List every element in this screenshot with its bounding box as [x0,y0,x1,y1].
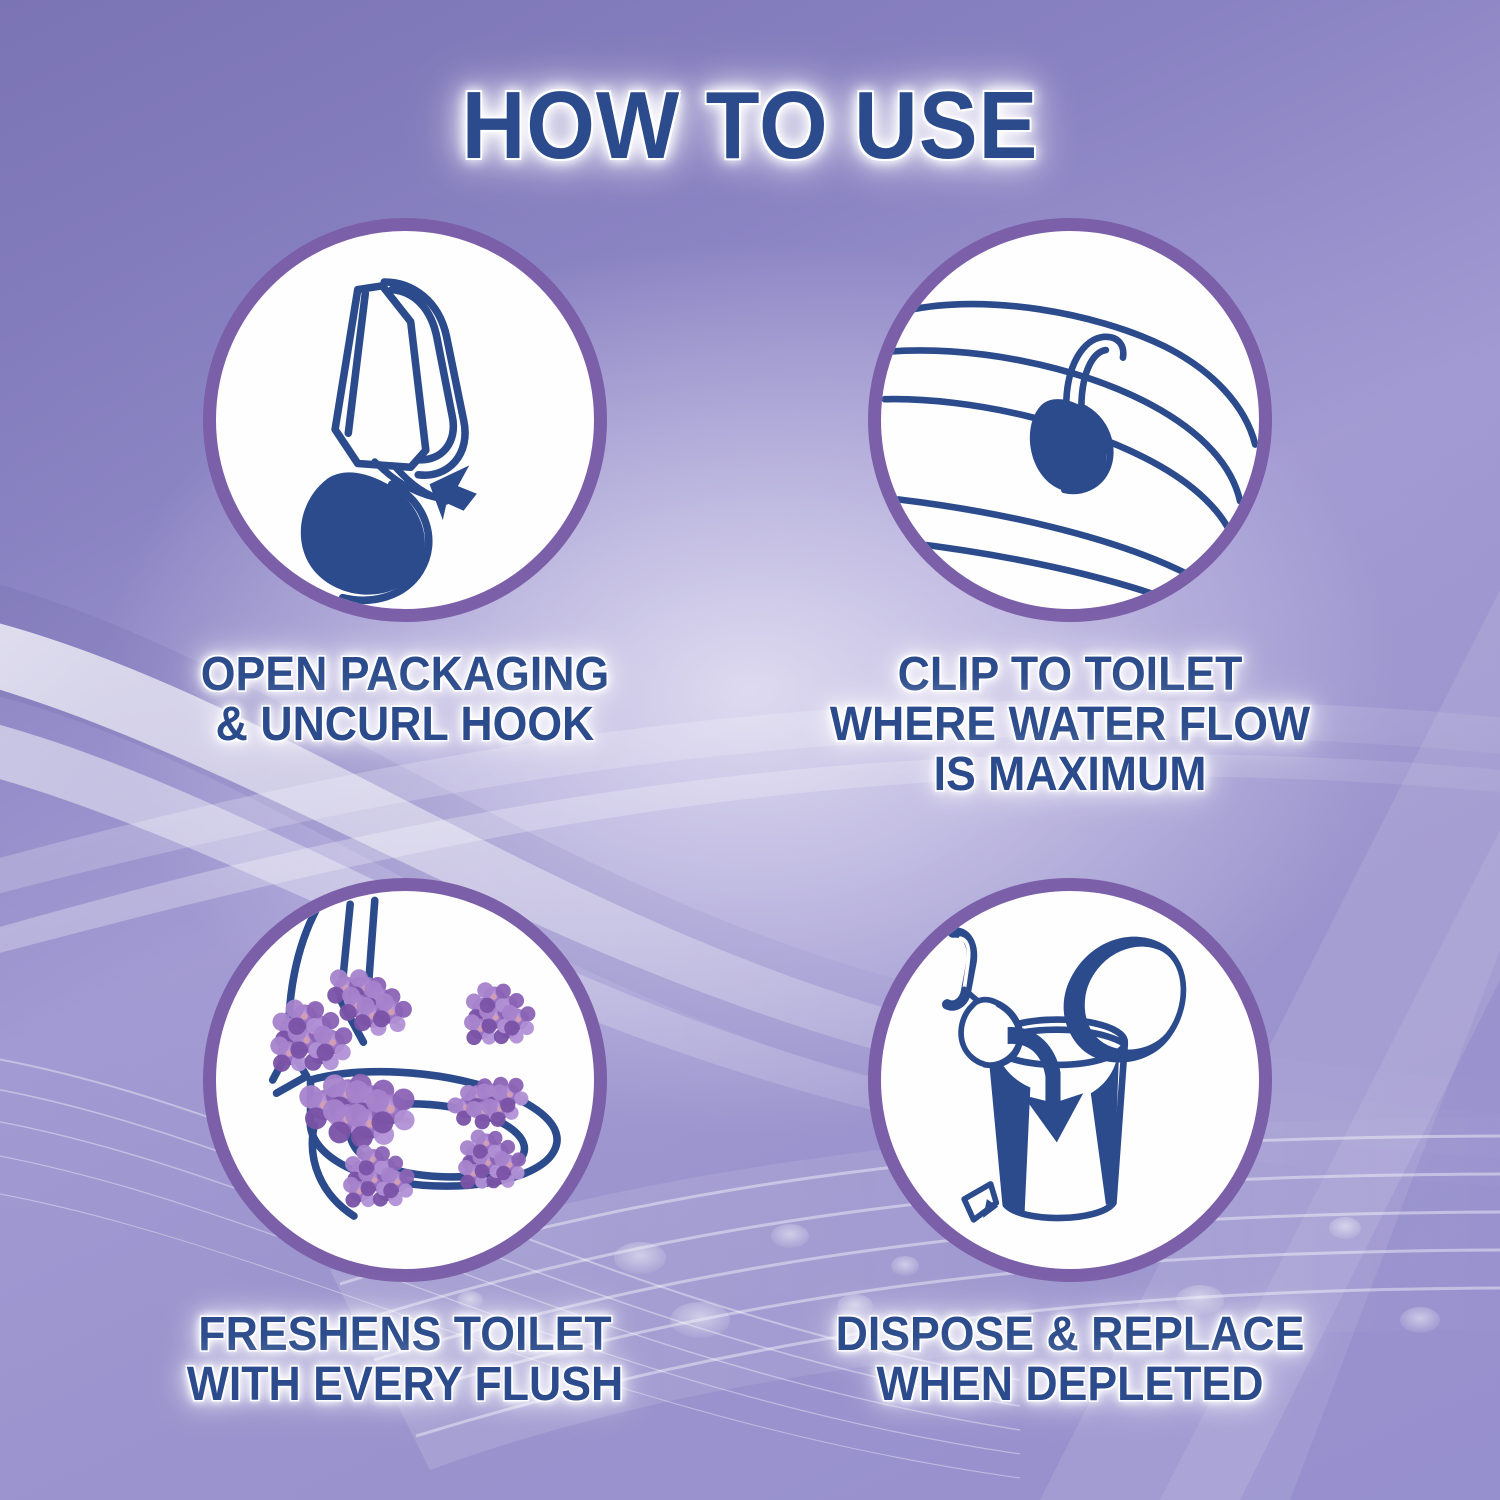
caption-line: WITH EVERY FLUSH [98,1360,712,1410]
used-rim-block-icon [947,932,1020,1065]
caption-line: WHEN DEPLETED [763,1360,1377,1410]
step-1-caption: OPEN PACKAGING & UNCURL HOOK [98,650,712,750]
caption-line: & UNCURL HOOK [98,700,712,750]
page-title: HOW TO USE [60,78,1440,174]
step-dispose-replace: DISPOSE & REPLACE WHEN DEPLETED [740,878,1400,1410]
dispose-in-trash-bin-icon [881,891,1259,1269]
caption-line: IS MAXIMUM [763,750,1377,800]
toilet-with-lavender-flowers-icon [216,891,594,1269]
bin-pedal-icon [964,1184,998,1220]
step-4-caption: DISPOSE & REPLACE WHEN DEPLETED [763,1310,1377,1410]
step-3-caption: FRESHENS TOILET WITH EVERY FLUSH [98,1310,712,1410]
step-1-icon-circle [203,218,607,622]
caption-line: CLIP TO TOILET [763,650,1377,700]
caption-line: FRESHENS TOILET [98,1310,712,1360]
step-2-caption: CLIP TO TOILET WHERE WATER FLOW IS MAXIM… [763,650,1377,800]
step-3-icon-circle [203,878,607,1282]
step-2-icon-circle [868,218,1272,622]
step-freshens-toilet: FRESHENS TOILET WITH EVERY FLUSH [75,878,735,1410]
caption-line: WHERE WATER FLOW [763,700,1377,750]
step-clip-to-toilet: CLIP TO TOILET WHERE WATER FLOW IS MAXIM… [740,218,1400,800]
step-4-icon-circle [868,878,1272,1282]
caption-line: DISPOSE & REPLACE [763,1310,1377,1360]
rim-block-clipped-to-toilet-icon [881,231,1259,609]
caption-line: OPEN PACKAGING [98,650,712,700]
infographic-canvas: HOW TO USE [0,0,1500,1500]
step-open-packaging: OPEN PACKAGING & UNCURL HOOK [75,218,735,750]
rim-block-open-package-icon [216,231,594,609]
